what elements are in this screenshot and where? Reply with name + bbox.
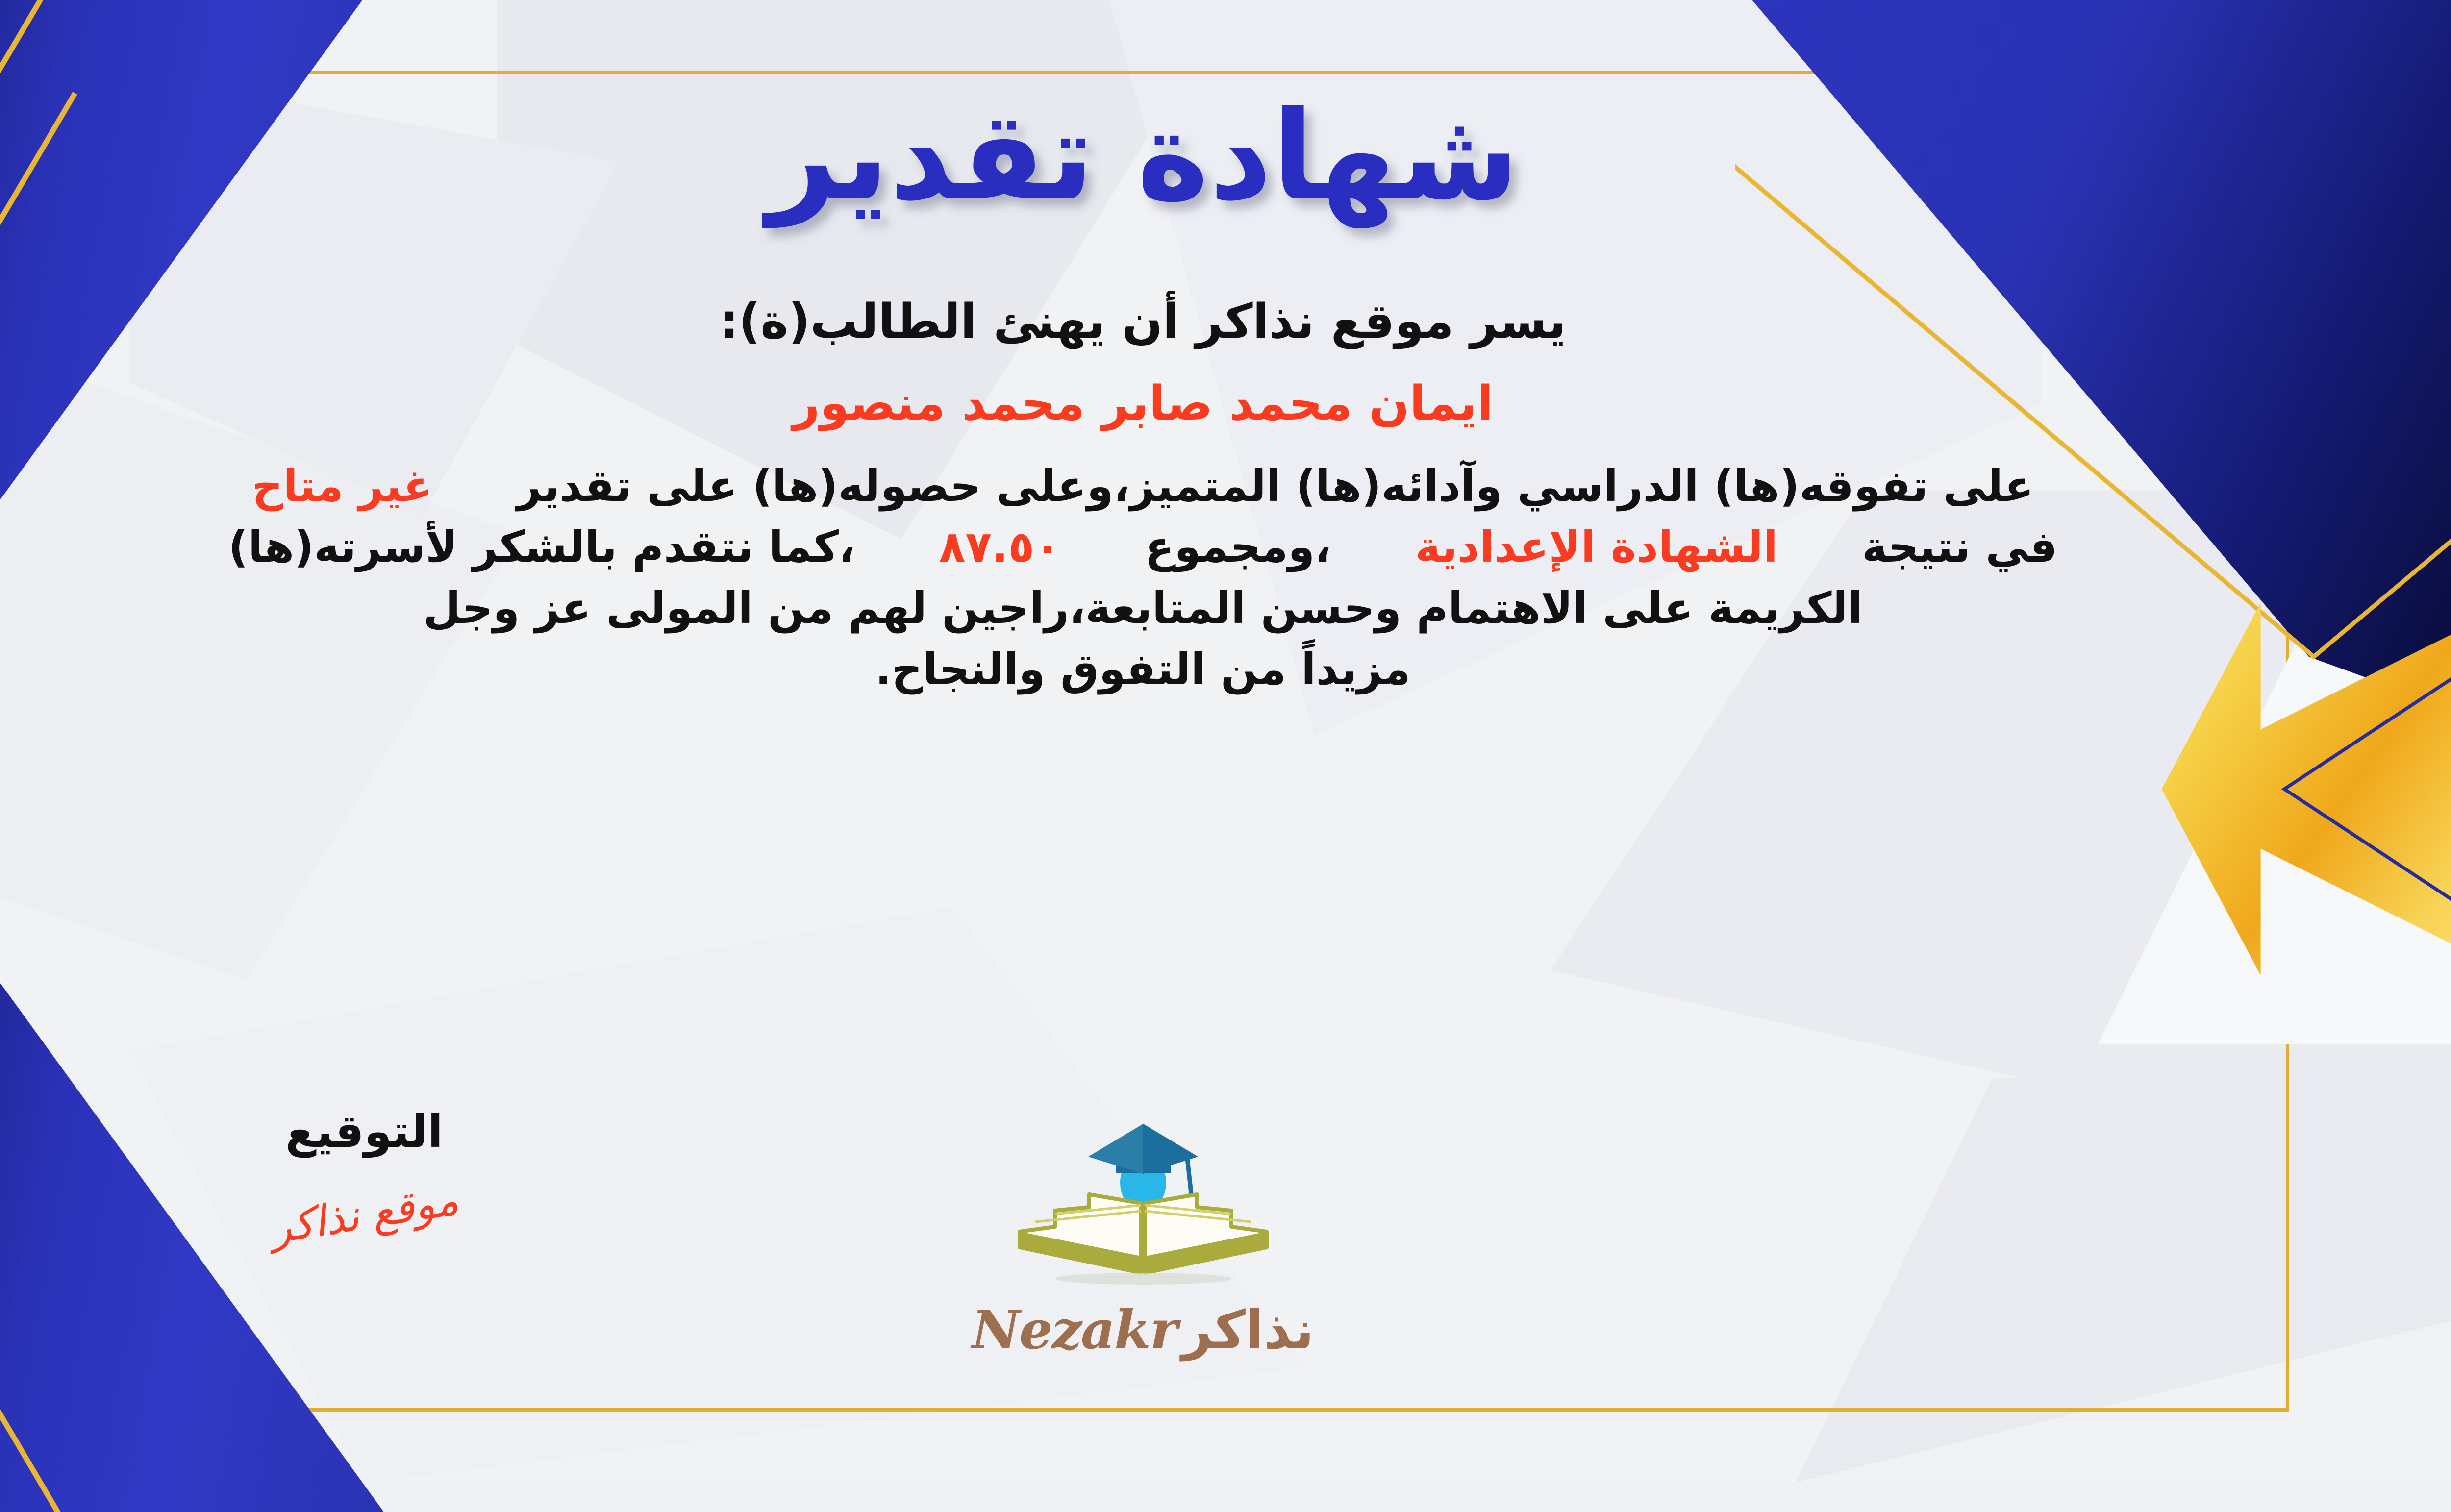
title-calligraphy: شهادة تقدير (677, 83, 1609, 245)
student-name: ايمان محمد صابر محمد منصور (89, 373, 2197, 433)
logo-name-en: Nezakr (972, 1299, 1176, 1361)
exam-name: الشهادة الإعدادية (1415, 521, 1778, 572)
certificate-title: شهادة تقدير (677, 83, 1609, 245)
body-line-4: في نتيجة الشهادة الإعدادية ،ومجموع ٨٧.٥٠… (25, 517, 2261, 578)
logo-graphic (1006, 1100, 1280, 1296)
signature-handwriting: موقع نذاكر (267, 1175, 462, 1253)
thanks-text: ،كما نتقدم بالشكر لأسرته(ها) (228, 521, 855, 572)
signature-block: التوقيع موقع نذاكر (173, 1105, 555, 1239)
title-text: شهادة تقدير (761, 85, 1519, 229)
open-book-icon (1020, 1194, 1267, 1285)
signature-label: التوقيع (173, 1105, 555, 1158)
grade-value: غير متاح (252, 461, 432, 511)
total-prefix: ،ومجموع (1145, 521, 1331, 572)
certificate-footer: التوقيع موقع نذاكر (0, 1105, 2451, 1380)
body-line-5: الكريمة على الاهتمام وحسن المتابعة،راجين… (25, 578, 2261, 639)
intro-line: يسر موقع نذاكر أن يهنئ الطالب(ة): (89, 292, 2197, 351)
body-paragraph: على تفوقه(ها) الدراسي وآدائه(ها) المتميز… (25, 456, 2261, 701)
site-logo: Nezakr نذاكر (923, 1100, 1364, 1361)
result-prefix: في نتيجة (1862, 521, 2057, 572)
logo-name-ar: نذاكر (1182, 1300, 1314, 1361)
logo-wordmark: Nezakr نذاكر (972, 1299, 1314, 1361)
body-line-3-text: على تفوقه(ها) الدراسي وآدائه(ها) المتميز… (517, 461, 2034, 511)
body-line-6: مزيداً من التفوق والنجاح. (25, 639, 2261, 700)
total-score: ٨٧.٥٠ (939, 521, 1061, 572)
body-line-3: على تفوقه(ها) الدراسي وآدائه(ها) المتميز… (25, 456, 2261, 517)
